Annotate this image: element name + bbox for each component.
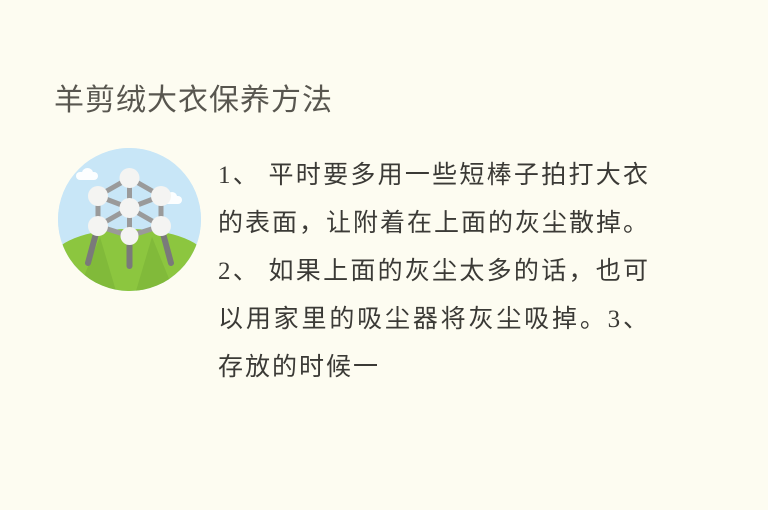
article-body-text: 1、 平时要多用一些短棒子拍打大衣的表面，让附着在上面的灰尘散掉。2、 如果上面… (218, 152, 650, 392)
article-thumbnail[interactable] (58, 148, 201, 291)
page-title: 羊剪绒大衣保养方法 (54, 80, 333, 122)
article-page: 羊剪绒大衣保养方法 (0, 0, 768, 510)
atomium-icon (58, 148, 201, 291)
thumbnail-circle (58, 148, 201, 291)
